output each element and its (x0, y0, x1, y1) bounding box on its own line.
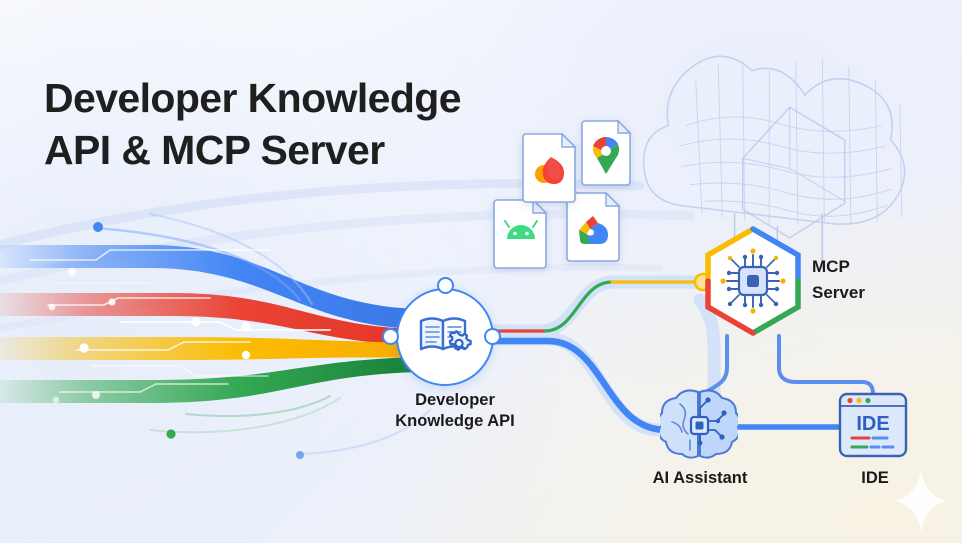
hub-top-port (437, 277, 454, 294)
window-traffic-lights (847, 398, 870, 403)
google-maps-doc-card[interactable] (580, 120, 632, 186)
ide-node[interactable]: IDE (838, 392, 908, 458)
book-gear-icon (417, 311, 473, 363)
hub-output-port (484, 328, 501, 345)
ide-label: IDE (805, 468, 945, 489)
connector-mcp-to-ide (779, 336, 873, 394)
infographic-canvas: IDE Developer Knowledge API & MCP Server… (0, 0, 962, 543)
firebase-doc-card-2[interactable] (521, 133, 577, 203)
developer-knowledge-api-node[interactable] (396, 288, 494, 386)
ide-screen-text: IDE (856, 413, 889, 435)
cpu-chip-icon (720, 248, 785, 313)
mcp-server-label: MCP Server (812, 254, 962, 306)
hub-input-port (382, 328, 399, 345)
firebase-doc-card[interactable] (492, 199, 548, 269)
ai-assistant-node[interactable] (660, 388, 738, 462)
hub-label: Developer Knowledge API (330, 390, 580, 432)
page-title: Developer Knowledge API & MCP Server (44, 72, 461, 176)
mcp-server-node[interactable] (703, 226, 803, 336)
ai-assistant-label: AI Assistant (600, 468, 800, 489)
